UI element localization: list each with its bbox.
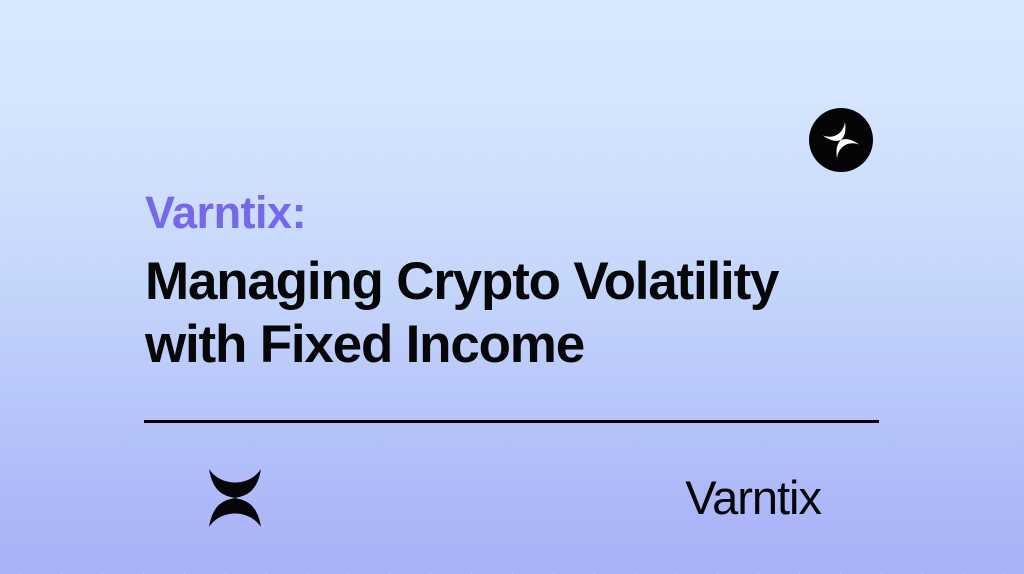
brand-badge — [809, 108, 873, 172]
title-slide: Varntix: Managing Crypto Volatility with… — [0, 0, 1024, 574]
divider-rule — [144, 420, 879, 423]
eyebrow-label: Varntix: — [145, 190, 905, 235]
page-title: Managing Crypto Volatility with Fixed In… — [145, 250, 905, 376]
headline-line-2: with Fixed Income — [145, 313, 905, 376]
brand-wordmark: Varntix — [685, 474, 821, 521]
varntix-butterfly-mark-icon — [820, 119, 862, 161]
footer-row: Varntix — [144, 455, 879, 540]
varntix-x-mark-icon — [207, 467, 263, 529]
title-block: Varntix: Managing Crypto Volatility with… — [145, 190, 905, 376]
headline-line-1: Managing Crypto Volatility — [145, 250, 905, 313]
